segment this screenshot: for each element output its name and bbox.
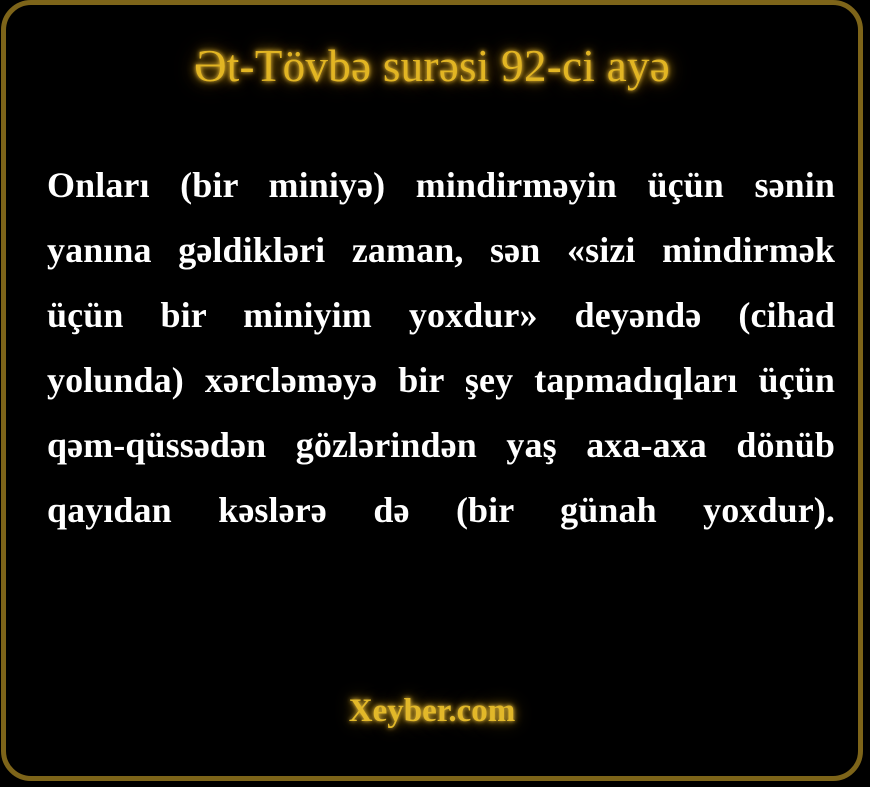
verse-card: Ət-Tövbə surəsi 92-ci ayə Onları (bir mi… [1,0,863,781]
page-title: Ət-Tövbə surəsi 92-ci ayə [6,43,858,90]
verse-body-text: Onları (bir miniyə) mindirməyin üçün sən… [47,153,835,608]
site-watermark: Xeyber.com [6,693,858,730]
